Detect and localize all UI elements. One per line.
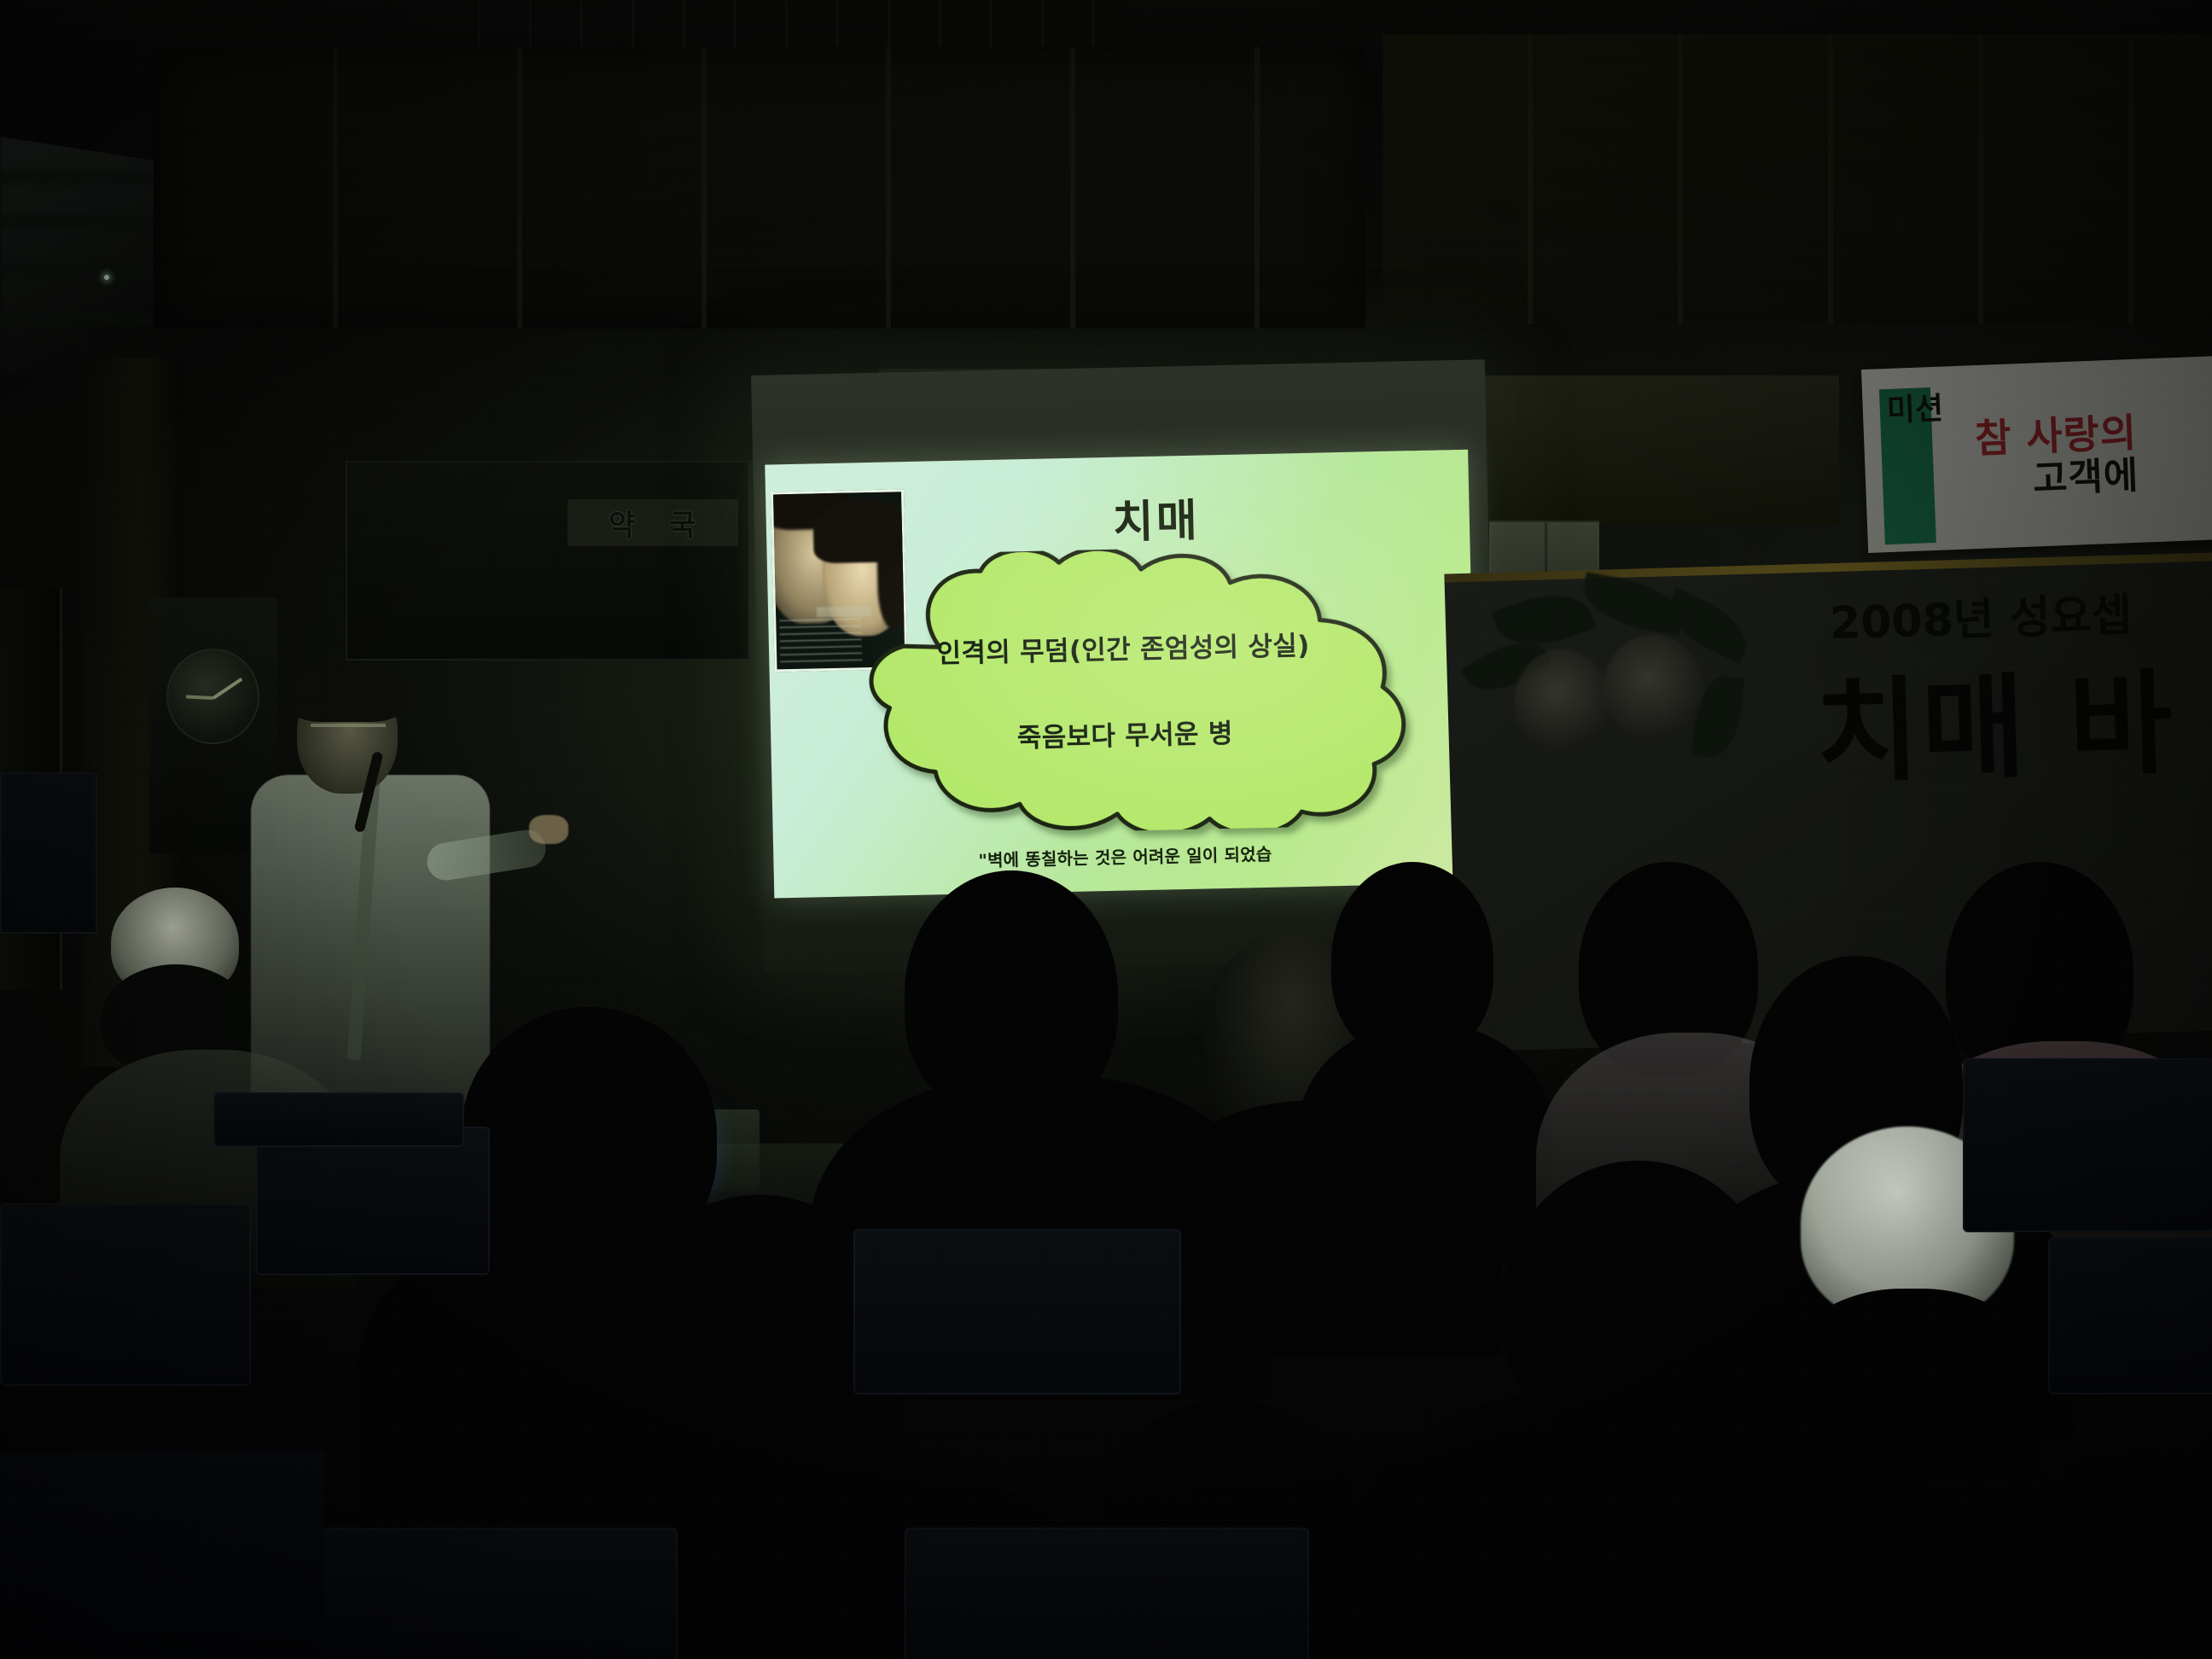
mission-banner-tab-label: 미션 bbox=[1886, 384, 1944, 431]
pharmacy-sign-char-1: 약 bbox=[608, 502, 637, 544]
presenter-pointing-hand bbox=[529, 815, 568, 844]
clock-hand-minute bbox=[185, 695, 212, 700]
audience-member-front-center bbox=[1400, 1161, 1877, 1659]
cloud-text-block: 인격의 무덤(인간 존엄성의 상실) 죽음보다 무서운 병 bbox=[812, 621, 1437, 760]
chair-back-rail[interactable] bbox=[213, 1092, 464, 1147]
chair[interactable] bbox=[256, 1126, 490, 1275]
chair[interactable] bbox=[1963, 1058, 2212, 1232]
left-monitor bbox=[0, 772, 97, 934]
thought-cloud: 인격의 무덤(인간 존엄성의 상실) 죽음보다 무서운 병 bbox=[810, 543, 1439, 838]
upper-wall bbox=[154, 47, 1365, 329]
projected-slide: 치매 인격의 무덤(인간 존엄성의 상실) 죽음보다 무서운 병 "벽에 똥칠하… bbox=[765, 450, 1477, 899]
mission-banner: 미션 참 사랑의 고객에 bbox=[1861, 356, 2212, 553]
clock-hand-hour bbox=[212, 678, 242, 700]
left-display-board bbox=[346, 461, 750, 661]
banner-portrait-photo bbox=[1601, 633, 1704, 743]
chair[interactable] bbox=[0, 1203, 251, 1386]
pharmacy-sign: 약 국 bbox=[568, 499, 738, 546]
mission-banner-black-text: 고객에 bbox=[2032, 445, 2139, 504]
wall-clock bbox=[166, 649, 259, 744]
event-banner-headline: 치매 바 bbox=[1813, 632, 2177, 806]
ceiling-light-dot bbox=[104, 275, 109, 280]
right-wall-band bbox=[1382, 34, 2212, 324]
chair[interactable] bbox=[853, 1229, 1181, 1394]
chair[interactable] bbox=[2048, 1237, 2212, 1394]
presenter-glasses-icon bbox=[311, 724, 386, 727]
presenter-hair bbox=[288, 662, 405, 722]
soffit bbox=[1481, 375, 1839, 525]
chair[interactable] bbox=[316, 1528, 678, 1659]
banner-portrait-photo bbox=[1513, 648, 1611, 754]
chair-row bbox=[0, 1451, 324, 1659]
pharmacy-sign-char-2: 국 bbox=[669, 502, 697, 544]
photograph-scene: 약 국 치매 인격의 무덤(인간 존엄성의 상실) bbox=[0, 0, 2212, 1659]
chair[interactable] bbox=[905, 1528, 1309, 1659]
